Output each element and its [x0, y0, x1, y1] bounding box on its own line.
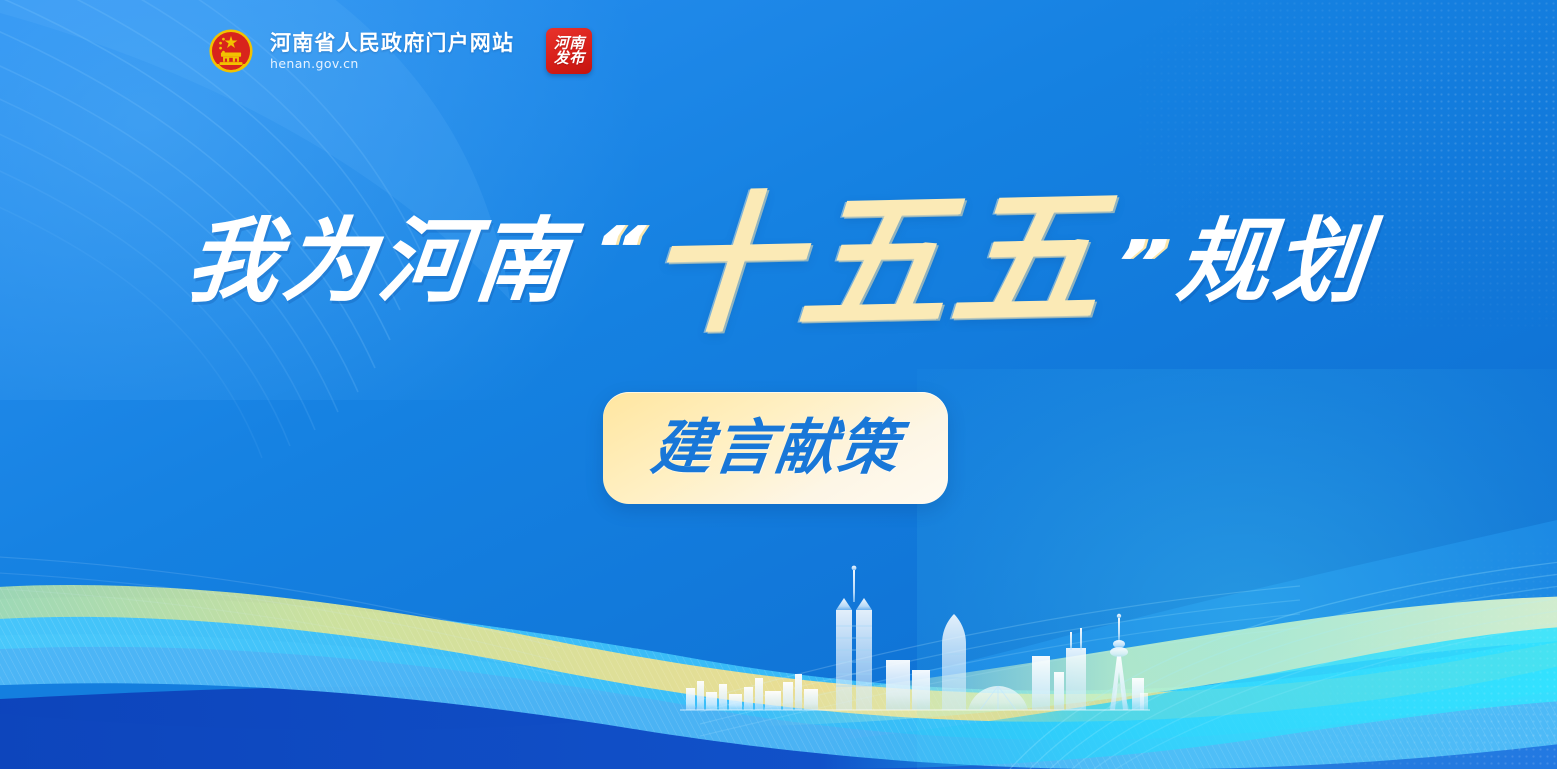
glow-bottom-right	[917, 369, 1557, 769]
swoosh-lines-center	[700, 586, 1300, 736]
background-waves	[0, 0, 1557, 769]
national-emblem-icon	[208, 28, 254, 74]
dot-grid-decoration-bottom	[1257, 529, 1557, 769]
henan-publish-badge[interactable]: 河南 发布	[546, 28, 592, 74]
zhengzhou-skyline-icon	[680, 548, 1150, 713]
hero-word-right: 规划	[1173, 216, 1375, 308]
quote-close-icon: ”	[1102, 232, 1171, 296]
banner-root: 河南省人民政府门户网站 henan.gov.cn 河南 发布 我为河南 “ 十五…	[0, 0, 1557, 769]
site-domain: henan.gov.cn	[270, 57, 514, 71]
swoosh-lines-right	[1010, 560, 1557, 769]
hero-title-row: 我为河南 “ 十五五 ” 规划	[187, 193, 1370, 331]
quote-open-icon: “	[582, 218, 651, 282]
dot-grid-decoration	[1137, 0, 1557, 330]
suggestion-pill-button[interactable]: 建言献策	[603, 392, 948, 504]
hero-calligraphy: 十五五	[639, 188, 1113, 336]
wave-gold	[0, 585, 1557, 722]
wave-light-blue	[0, 634, 1557, 769]
hero-quoted-group: “ 十五五 ”	[585, 193, 1168, 331]
wave-cyan-right	[820, 626, 1557, 769]
wave-pale-right	[760, 596, 1557, 726]
site-header[interactable]: 河南省人民政府门户网站 henan.gov.cn 河南 发布	[208, 28, 592, 74]
header-text-block: 河南省人民政府门户网站 henan.gov.cn	[270, 32, 514, 71]
background-decoration	[0, 0, 1557, 769]
hero-title: 我为河南 “ 十五五 ” 规划	[0, 112, 1557, 412]
badge-line-1: 河南	[554, 36, 585, 51]
wave-cyan	[0, 597, 1557, 740]
wave-deep-blue	[0, 687, 1557, 769]
site-title: 河南省人民政府门户网站	[270, 32, 514, 55]
suggestion-pill-label: 建言献策	[648, 418, 903, 478]
badge-line-2: 发布	[554, 51, 585, 66]
swoosh-lines-left	[0, 556, 560, 676]
hero-word-left: 我为河南	[182, 216, 576, 308]
